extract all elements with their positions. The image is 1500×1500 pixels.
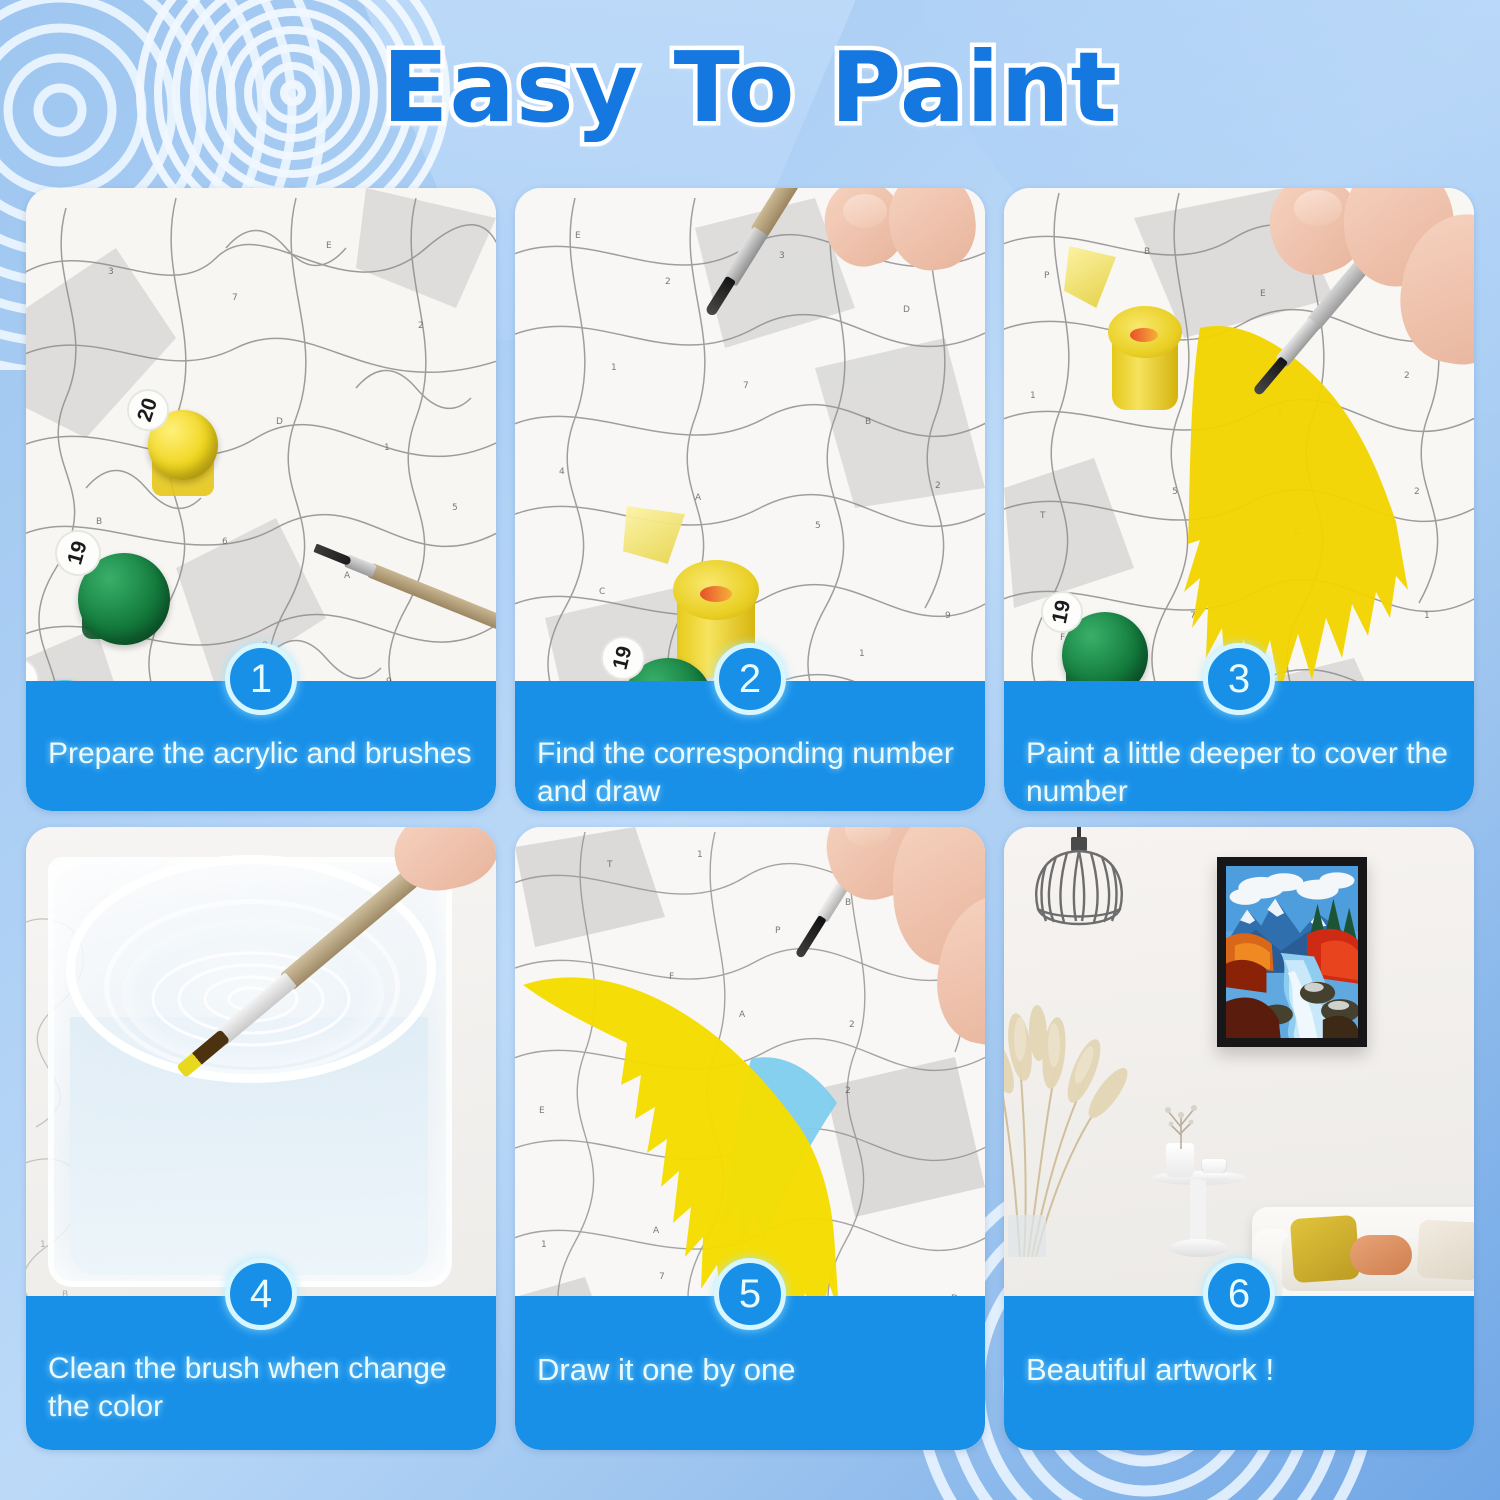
paint-inside bbox=[700, 586, 732, 602]
step-number-badge-2: 2 bbox=[714, 643, 786, 715]
step-card-2[interactable]: E2 3D 17 B4 A5 2C 61 9F 83 bbox=[515, 188, 985, 811]
svg-text:B: B bbox=[96, 517, 102, 527]
step-number-badge-3: 3 bbox=[1203, 643, 1275, 715]
steps-grid: 37 E2 4D 1B 6A 5C 89 F2 31 bbox=[26, 188, 1474, 1478]
svg-text:D: D bbox=[276, 417, 283, 427]
step-card-3[interactable]: PB ED 1A 32 T5 C2 F7 91 48 6 bbox=[1004, 188, 1474, 811]
svg-text:1: 1 bbox=[541, 1240, 547, 1250]
finger bbox=[387, 827, 496, 899]
hand bbox=[372, 827, 496, 899]
open-paint-pot-yellow bbox=[1108, 306, 1182, 410]
step-caption-text: Prepare the acrylic and brushes bbox=[48, 735, 474, 773]
hand bbox=[785, 188, 985, 294]
paint-inside bbox=[1130, 328, 1158, 342]
svg-text:5: 5 bbox=[1172, 487, 1178, 497]
svg-text:B: B bbox=[865, 417, 871, 427]
dry-branch bbox=[1158, 1097, 1204, 1149]
step-caption-text: Find the corresponding number and draw bbox=[537, 735, 963, 811]
svg-text:P: P bbox=[1044, 271, 1050, 281]
svg-text:E: E bbox=[575, 231, 581, 241]
svg-text:A: A bbox=[739, 1010, 746, 1020]
svg-text:7: 7 bbox=[743, 381, 749, 391]
hand bbox=[1252, 188, 1474, 368]
step-caption-text: Paint a little deeper to cover the numbe… bbox=[1026, 735, 1452, 811]
step-number-badge-4: 4 bbox=[225, 1258, 297, 1330]
hand bbox=[789, 827, 985, 1045]
svg-text:1: 1 bbox=[1424, 611, 1430, 621]
fingernail bbox=[1294, 190, 1342, 226]
svg-text:7: 7 bbox=[232, 293, 238, 303]
svg-text:A: A bbox=[653, 1226, 660, 1236]
page-title: Easy To Paint bbox=[382, 31, 1118, 144]
svg-text:P: P bbox=[775, 926, 781, 936]
svg-text:1: 1 bbox=[40, 1240, 46, 1250]
svg-text:C: C bbox=[599, 587, 605, 597]
svg-text:7: 7 bbox=[659, 1272, 665, 1282]
cushion-beige bbox=[1417, 1219, 1474, 1280]
pendant-lamp bbox=[1024, 827, 1134, 943]
cushion-yellow bbox=[1290, 1215, 1360, 1283]
step-card-1[interactable]: 37 E2 4D 1B 6A 5C 89 F2 31 bbox=[26, 188, 496, 811]
svg-text:2: 2 bbox=[1404, 371, 1410, 381]
svg-text:1: 1 bbox=[611, 363, 617, 373]
side-table bbox=[1152, 1153, 1246, 1267]
step-card-5[interactable]: T1 PB FA 2E 21 A7 HD P3 bbox=[515, 827, 985, 1450]
svg-text:1: 1 bbox=[384, 443, 390, 453]
svg-text:5: 5 bbox=[815, 521, 821, 531]
svg-text:2: 2 bbox=[1414, 487, 1420, 497]
svg-text:1: 1 bbox=[697, 850, 703, 860]
step-number-badge-6: 6 bbox=[1203, 1258, 1275, 1330]
saucer bbox=[1196, 1173, 1232, 1181]
svg-text:T: T bbox=[1039, 511, 1046, 521]
svg-text:E: E bbox=[326, 241, 332, 251]
table-stem bbox=[1190, 1179, 1206, 1247]
svg-text:9: 9 bbox=[945, 611, 951, 621]
finger bbox=[882, 188, 981, 275]
title-bar: Easy To Paint bbox=[0, 22, 1500, 152]
svg-text:2: 2 bbox=[935, 481, 941, 491]
svg-text:4: 4 bbox=[559, 467, 565, 477]
svg-text:B: B bbox=[1144, 247, 1150, 257]
svg-text:A: A bbox=[344, 571, 351, 581]
pampas-grass bbox=[1004, 967, 1154, 1257]
fingernail bbox=[843, 194, 887, 228]
svg-text:1: 1 bbox=[1030, 391, 1036, 401]
svg-text:A: A bbox=[695, 493, 702, 503]
step-caption-text: Beautiful artwork ! bbox=[1026, 1350, 1452, 1390]
step-caption-text: Draw it one by one bbox=[537, 1350, 963, 1390]
step-number-badge-1: 1 bbox=[225, 643, 297, 715]
svg-text:6: 6 bbox=[222, 537, 228, 547]
svg-text:E: E bbox=[539, 1106, 545, 1116]
svg-text:5: 5 bbox=[452, 503, 458, 513]
svg-text:D: D bbox=[903, 305, 910, 315]
svg-text:2: 2 bbox=[845, 1086, 851, 1096]
svg-text:2: 2 bbox=[418, 321, 424, 331]
step-card-6[interactable]: 6 Beautiful artwork ! bbox=[1004, 827, 1474, 1450]
step-card-4[interactable]: 1B 3A bbox=[26, 827, 496, 1450]
framed-artwork bbox=[1217, 857, 1367, 1047]
step-caption-text: Clean the brush when change the color bbox=[48, 1350, 474, 1427]
artwork-image bbox=[1226, 866, 1358, 1038]
svg-text:F: F bbox=[669, 972, 674, 982]
svg-text:3: 3 bbox=[108, 267, 114, 277]
svg-text:3: 3 bbox=[779, 251, 785, 261]
svg-text:T: T bbox=[606, 860, 613, 870]
svg-text:1: 1 bbox=[859, 649, 865, 659]
step-number-badge-5: 5 bbox=[714, 1258, 786, 1330]
svg-text:2: 2 bbox=[665, 277, 671, 287]
cushion-orange bbox=[1350, 1235, 1412, 1275]
table-base bbox=[1170, 1239, 1228, 1257]
